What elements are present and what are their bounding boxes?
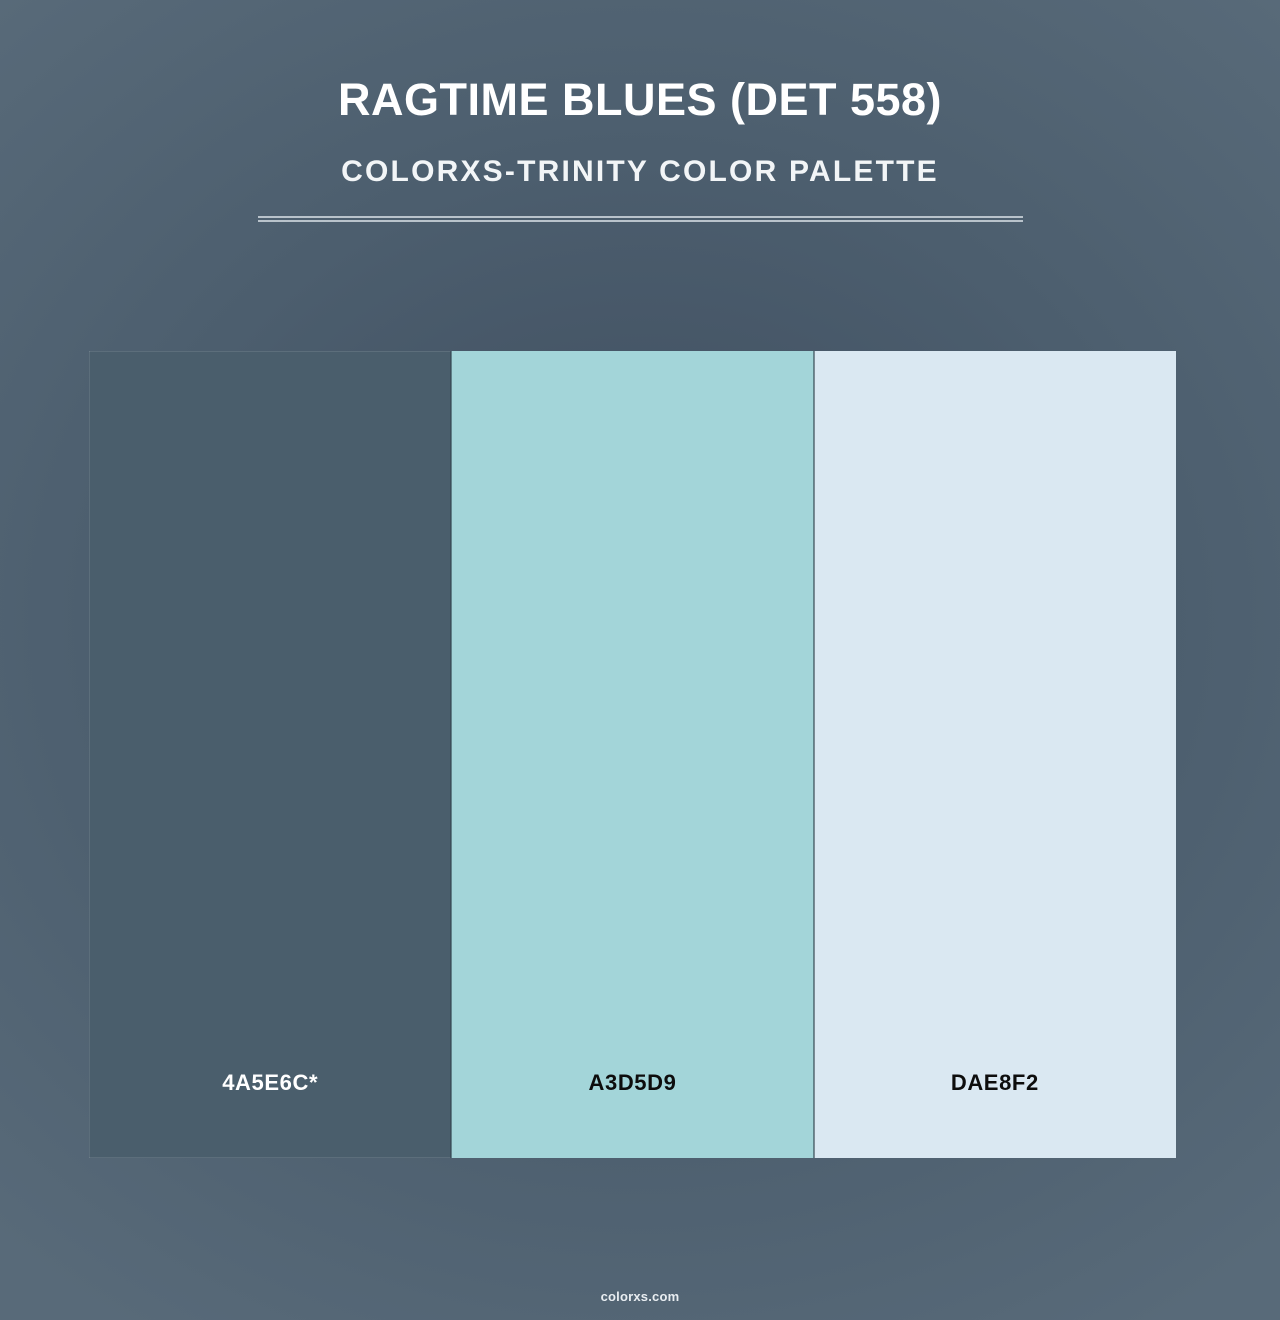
site-watermark: colorxs.com <box>601 1289 680 1304</box>
header: RAGTIME BLUES (DET 558) COLORXS-TRINITY … <box>0 0 1280 222</box>
color-label-cell-1: 4A5E6C* <box>89 1007 451 1158</box>
color-label-cell-3: DAE8F2 <box>814 1007 1176 1158</box>
color-hex-label-1: 4A5E6C* <box>222 1070 318 1096</box>
color-palette: 4A5E6C* A3D5D9 DAE8F2 <box>89 351 1176 1158</box>
color-hex-label-2: A3D5D9 <box>589 1070 677 1096</box>
footer: colorxs.com <box>0 1288 1280 1306</box>
color-swatch-2[interactable] <box>451 351 813 1007</box>
color-swatch-3[interactable] <box>814 351 1176 1007</box>
swatch-column-1[interactable]: 4A5E6C* <box>89 351 451 1158</box>
color-swatch-1[interactable] <box>89 351 451 1007</box>
page-subtitle: COLORXS-TRINITY COLOR PALETTE <box>0 153 1280 191</box>
swatch-column-2[interactable]: A3D5D9 <box>451 351 813 1158</box>
page-title: RAGTIME BLUES (DET 558) <box>0 72 1280 128</box>
divider-line-bottom <box>258 220 1023 222</box>
swatch-column-3[interactable]: DAE8F2 <box>814 351 1176 1158</box>
color-label-cell-2: A3D5D9 <box>451 1007 813 1158</box>
title-divider <box>258 216 1023 222</box>
color-hex-label-3: DAE8F2 <box>951 1070 1039 1096</box>
